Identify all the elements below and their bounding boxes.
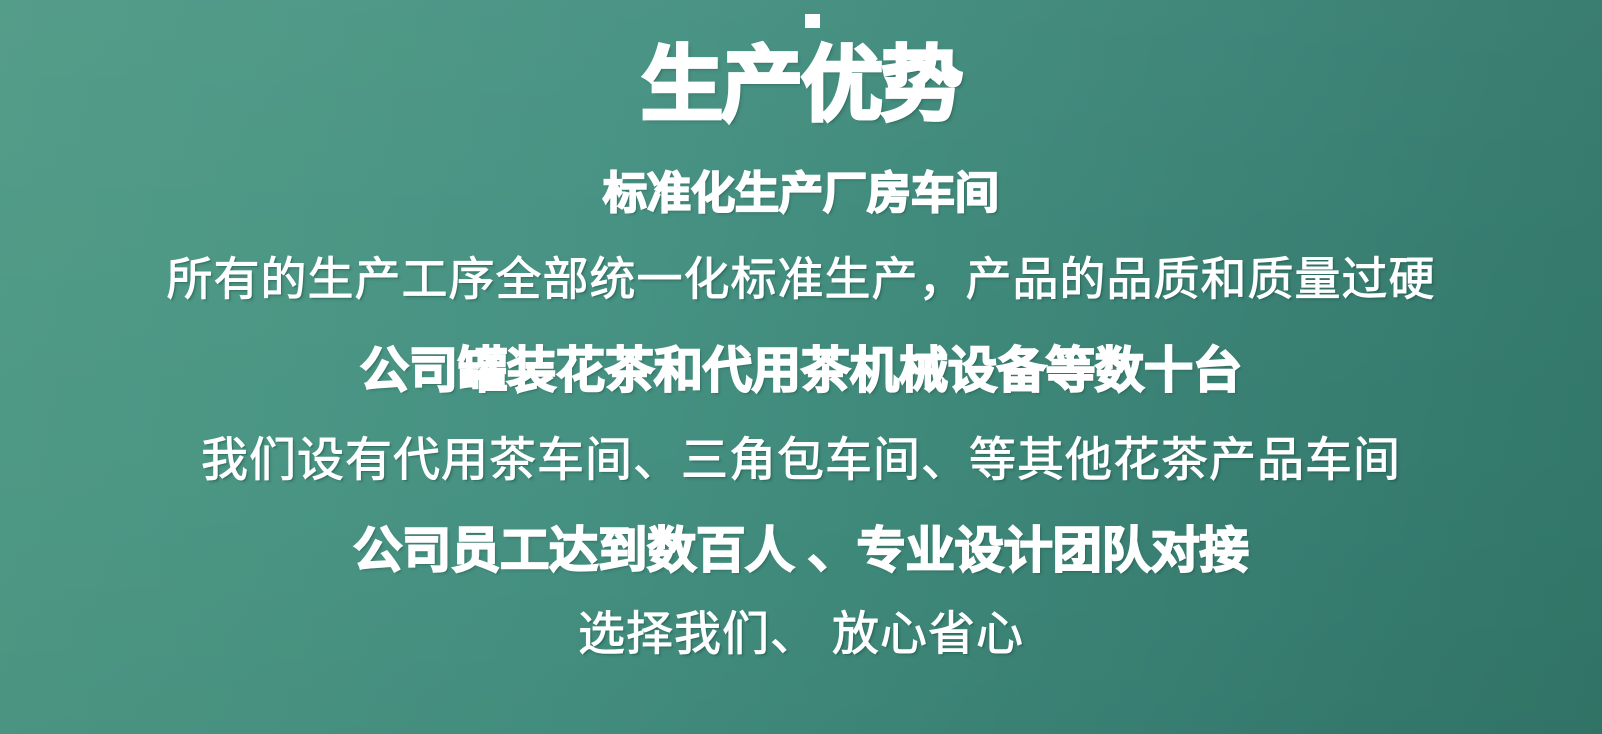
- page-title: 生产优势: [0, 40, 1602, 132]
- advantage-line-1: 标准化生产厂房车间: [0, 168, 1602, 220]
- production-advantage-poster: 生产优势 标准化生产厂房车间 所有的生产工序全部统一化标准生产，产品的品质和质量…: [0, 0, 1602, 734]
- advantage-line-6: 选择我们、 放心省心: [0, 606, 1602, 662]
- square-bullet-icon: [805, 14, 820, 28]
- poster-content: 生产优势 标准化生产厂房车间 所有的生产工序全部统一化标准生产，产品的品质和质量…: [0, 0, 1602, 734]
- advantage-line-4: 我们设有代用茶车间、三角包车间、等其他花茶产品车间: [0, 432, 1602, 488]
- advantage-line-5: 公司员工达到数百人 、专业设计团队对接: [0, 522, 1602, 580]
- advantage-line-2: 所有的生产工序全部统一化标准生产，产品的品质和质量过硬: [0, 252, 1602, 306]
- advantage-line-3: 公司罐装花茶和代用茶机械设备等数十台: [0, 342, 1602, 400]
